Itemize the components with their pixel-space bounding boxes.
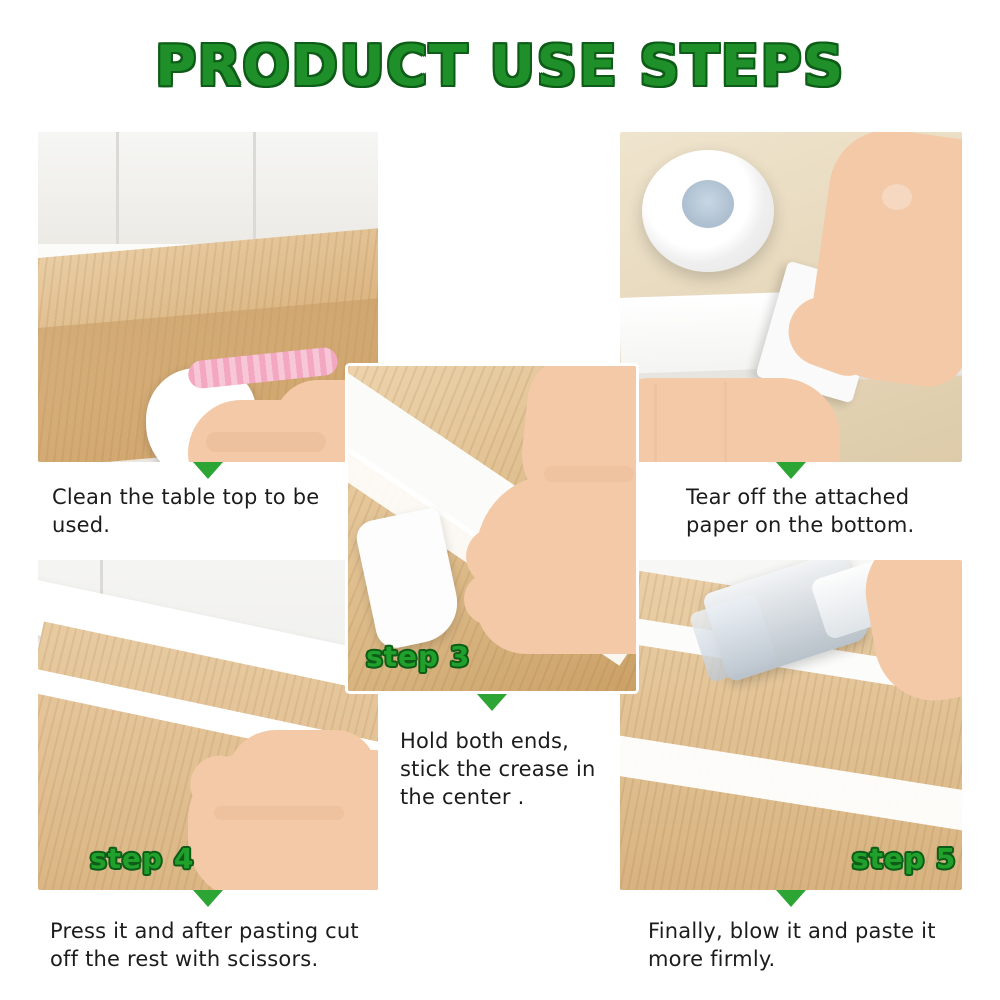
step-3-caption: Hold both ends, stick the crease in the …	[400, 728, 630, 812]
step-5-badge: step 5	[852, 842, 956, 875]
arrow-down-icon-step-3	[477, 694, 507, 711]
arrow-down-icon-step-1	[193, 462, 223, 479]
step-2-image: step 2	[620, 132, 962, 462]
step-5-image: step 5	[620, 560, 962, 890]
step-2-caption: Tear off the attached paper on the botto…	[686, 484, 986, 540]
step-4-badge: step 4	[90, 842, 194, 875]
step-1-image: step 1	[38, 132, 378, 462]
arrow-down-icon-step-4	[193, 890, 223, 907]
step-4-caption: Press it and after pasting cut off the r…	[50, 918, 390, 974]
poster-canvas: PRODUCT USE STEPS step 1	[0, 0, 1000, 1000]
step-5-caption: Finally, blow it and paste it more firml…	[648, 918, 988, 974]
step-4-image: step 4	[38, 560, 378, 890]
arrow-down-icon-step-5	[776, 890, 806, 907]
step-1-caption: Clean the table top to be used.	[52, 484, 362, 540]
arrow-down-icon-step-2	[776, 462, 806, 479]
page-title: PRODUCT USE STEPS	[0, 34, 1000, 99]
step-3-badge: step 3	[366, 640, 470, 673]
step-3-image: step 3	[348, 366, 636, 691]
